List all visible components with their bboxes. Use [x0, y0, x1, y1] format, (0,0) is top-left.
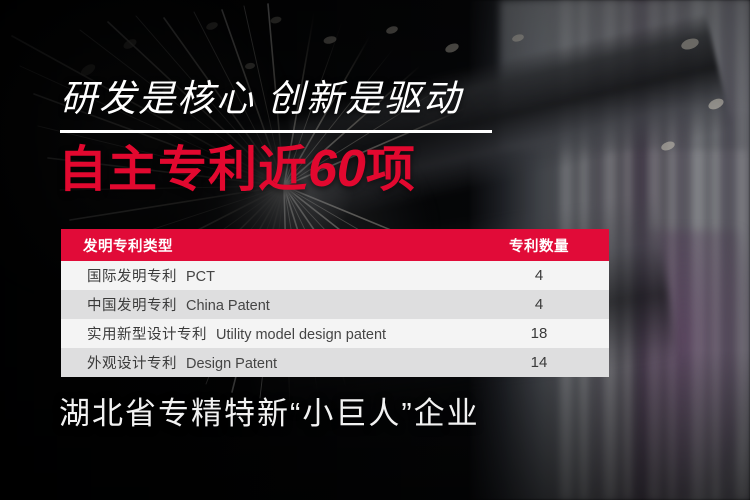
headline-secondary-number: 60 [308, 140, 366, 198]
poster-content: 研发是核心 创新是驱动 自主专利近60项 发明专利类型 专利数量 国际发明专利P… [0, 0, 750, 500]
cell-patent-count: 4 [469, 267, 609, 284]
patent-poster: 研发是核心 创新是驱动 自主专利近60项 发明专利类型 专利数量 国际发明专利P… [0, 0, 750, 500]
patent-table: 发明专利类型 专利数量 国际发明专利PCT 4 中国发明专利China Pate… [61, 229, 609, 377]
cell-patent-type-cn: 中国发明专利 [87, 298, 177, 314]
headline-primary: 研发是核心 创新是驱动 [60, 80, 462, 117]
cell-patent-type: 外观设计专利Design Patent [61, 352, 469, 373]
cell-patent-type-en: China Patent [186, 298, 270, 314]
cell-patent-type: 实用新型设计专利Utility model design patent [61, 323, 469, 344]
poster-caption: 湖北省专精特新“小巨人”企业 [59, 398, 480, 429]
cell-patent-type-cn: 实用新型设计专利 [87, 327, 207, 343]
table-row: 外观设计专利Design Patent 14 [61, 348, 609, 377]
headline-secondary: 自主专利近60项 [58, 143, 416, 195]
headline-secondary-prefix: 自主专利近 [58, 143, 308, 197]
column-header-count: 专利数量 [469, 235, 609, 256]
cell-patent-type-cn: 外观设计专利 [87, 356, 177, 372]
cell-patent-type-en: Utility model design patent [216, 327, 386, 343]
cell-patent-type-en: Design Patent [186, 356, 277, 372]
table-header-row: 发明专利类型 专利数量 [61, 229, 609, 261]
cell-patent-type: 中国发明专利China Patent [61, 294, 469, 315]
table-row: 实用新型设计专利Utility model design patent 18 [61, 319, 609, 348]
cell-patent-count: 14 [469, 354, 609, 371]
headline-secondary-suffix: 项 [366, 143, 416, 197]
cell-patent-type-en: PCT [186, 269, 215, 285]
headline-divider-rule [60, 130, 492, 133]
column-header-type: 发明专利类型 [61, 235, 469, 256]
table-row: 国际发明专利PCT 4 [61, 261, 609, 290]
table-row: 中国发明专利China Patent 4 [61, 290, 609, 319]
cell-patent-count: 18 [469, 325, 609, 342]
cell-patent-count: 4 [469, 296, 609, 313]
cell-patent-type-cn: 国际发明专利 [87, 269, 177, 285]
cell-patent-type: 国际发明专利PCT [61, 265, 469, 286]
